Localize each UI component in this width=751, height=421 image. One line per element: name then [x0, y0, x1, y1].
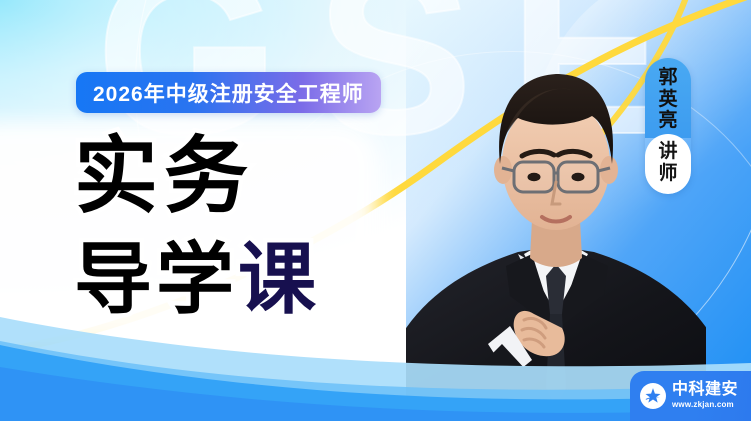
star-arrow-icon	[640, 383, 666, 409]
instructor-role-section: 讲 师	[645, 134, 691, 194]
instructor-name-section: 郭 英 亮	[645, 58, 691, 138]
course-category-label: 2026年中级注册安全工程师	[93, 78, 364, 108]
brand-url: www.zkjan.com	[672, 400, 738, 410]
instructor-name-char-1: 郭	[658, 67, 677, 89]
course-poster: GSE	[0, 0, 751, 421]
brand-logo[interactable]: 中科建安 www.zkjan.com	[630, 371, 751, 421]
instructor-role-char-2: 师	[658, 163, 677, 185]
brand-name: 中科建安	[672, 382, 738, 399]
instructor-name-char-3: 亮	[658, 110, 677, 132]
instructor-name-pill: 郭 英 亮 讲 师	[645, 58, 691, 194]
instructor-role-char-1: 讲	[658, 141, 677, 163]
course-category-badge: 2026年中级注册安全工程师	[76, 72, 381, 113]
instructor-name-char-2: 英	[658, 89, 677, 111]
brand-logo-text: 中科建安 www.zkjan.com	[672, 382, 738, 410]
